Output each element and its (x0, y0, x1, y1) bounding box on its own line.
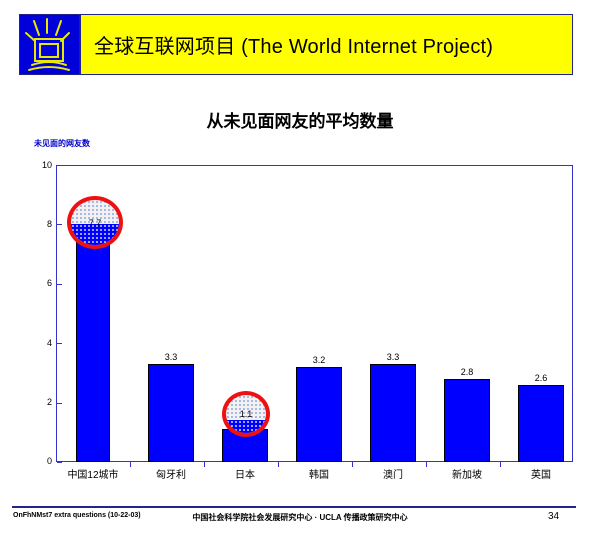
y-tick-0: 0 (26, 456, 52, 466)
page-title: 全球互联网项目 (The World Internet Project) (81, 30, 493, 59)
footer-divider (12, 506, 576, 508)
x-category-label-3: 韩国 (276, 466, 362, 481)
y-tick-6: 6 (26, 278, 52, 288)
x-category-label-4: 澳门 (350, 466, 436, 481)
x-category-label-5: 新加坡 (424, 466, 510, 481)
x-category-label-0: 中国12城市 (50, 466, 136, 481)
plot-area (56, 165, 573, 462)
chart-title: 从未见面网友的平均数量 (0, 107, 600, 132)
monitor-logo-icon (19, 14, 80, 75)
x-category-label-2: 日本 (202, 466, 288, 481)
y-axis-label: 未见面的网友数 (34, 138, 90, 149)
y-tick-4: 4 (26, 338, 52, 348)
footer-center-text: 中国社会科学院社会发展研究中心 · UCLA 传播政策研究中心 (0, 512, 600, 523)
x-tick-mark-6 (500, 462, 501, 467)
slide-header: 全球互联网项目 (The World Internet Project) (19, 14, 573, 75)
x-tick-mark-5 (426, 462, 427, 467)
x-tick-mark-2 (204, 462, 205, 467)
y-tick-10: 10 (26, 160, 52, 170)
x-category-label-6: 英国 (498, 466, 584, 481)
x-tick-mark-4 (352, 462, 353, 467)
y-tick-mark-0 (57, 462, 62, 463)
x-tick-mark-3 (278, 462, 279, 467)
x-category-label-1: 匈牙利 (128, 466, 214, 481)
header-title-banner: 全球互联网项目 (The World Internet Project) (80, 14, 573, 75)
y-tick-8: 8 (26, 219, 52, 229)
page-number: 34 (548, 511, 559, 522)
y-tick-2: 2 (26, 397, 52, 407)
x-tick-mark-1 (130, 462, 131, 467)
